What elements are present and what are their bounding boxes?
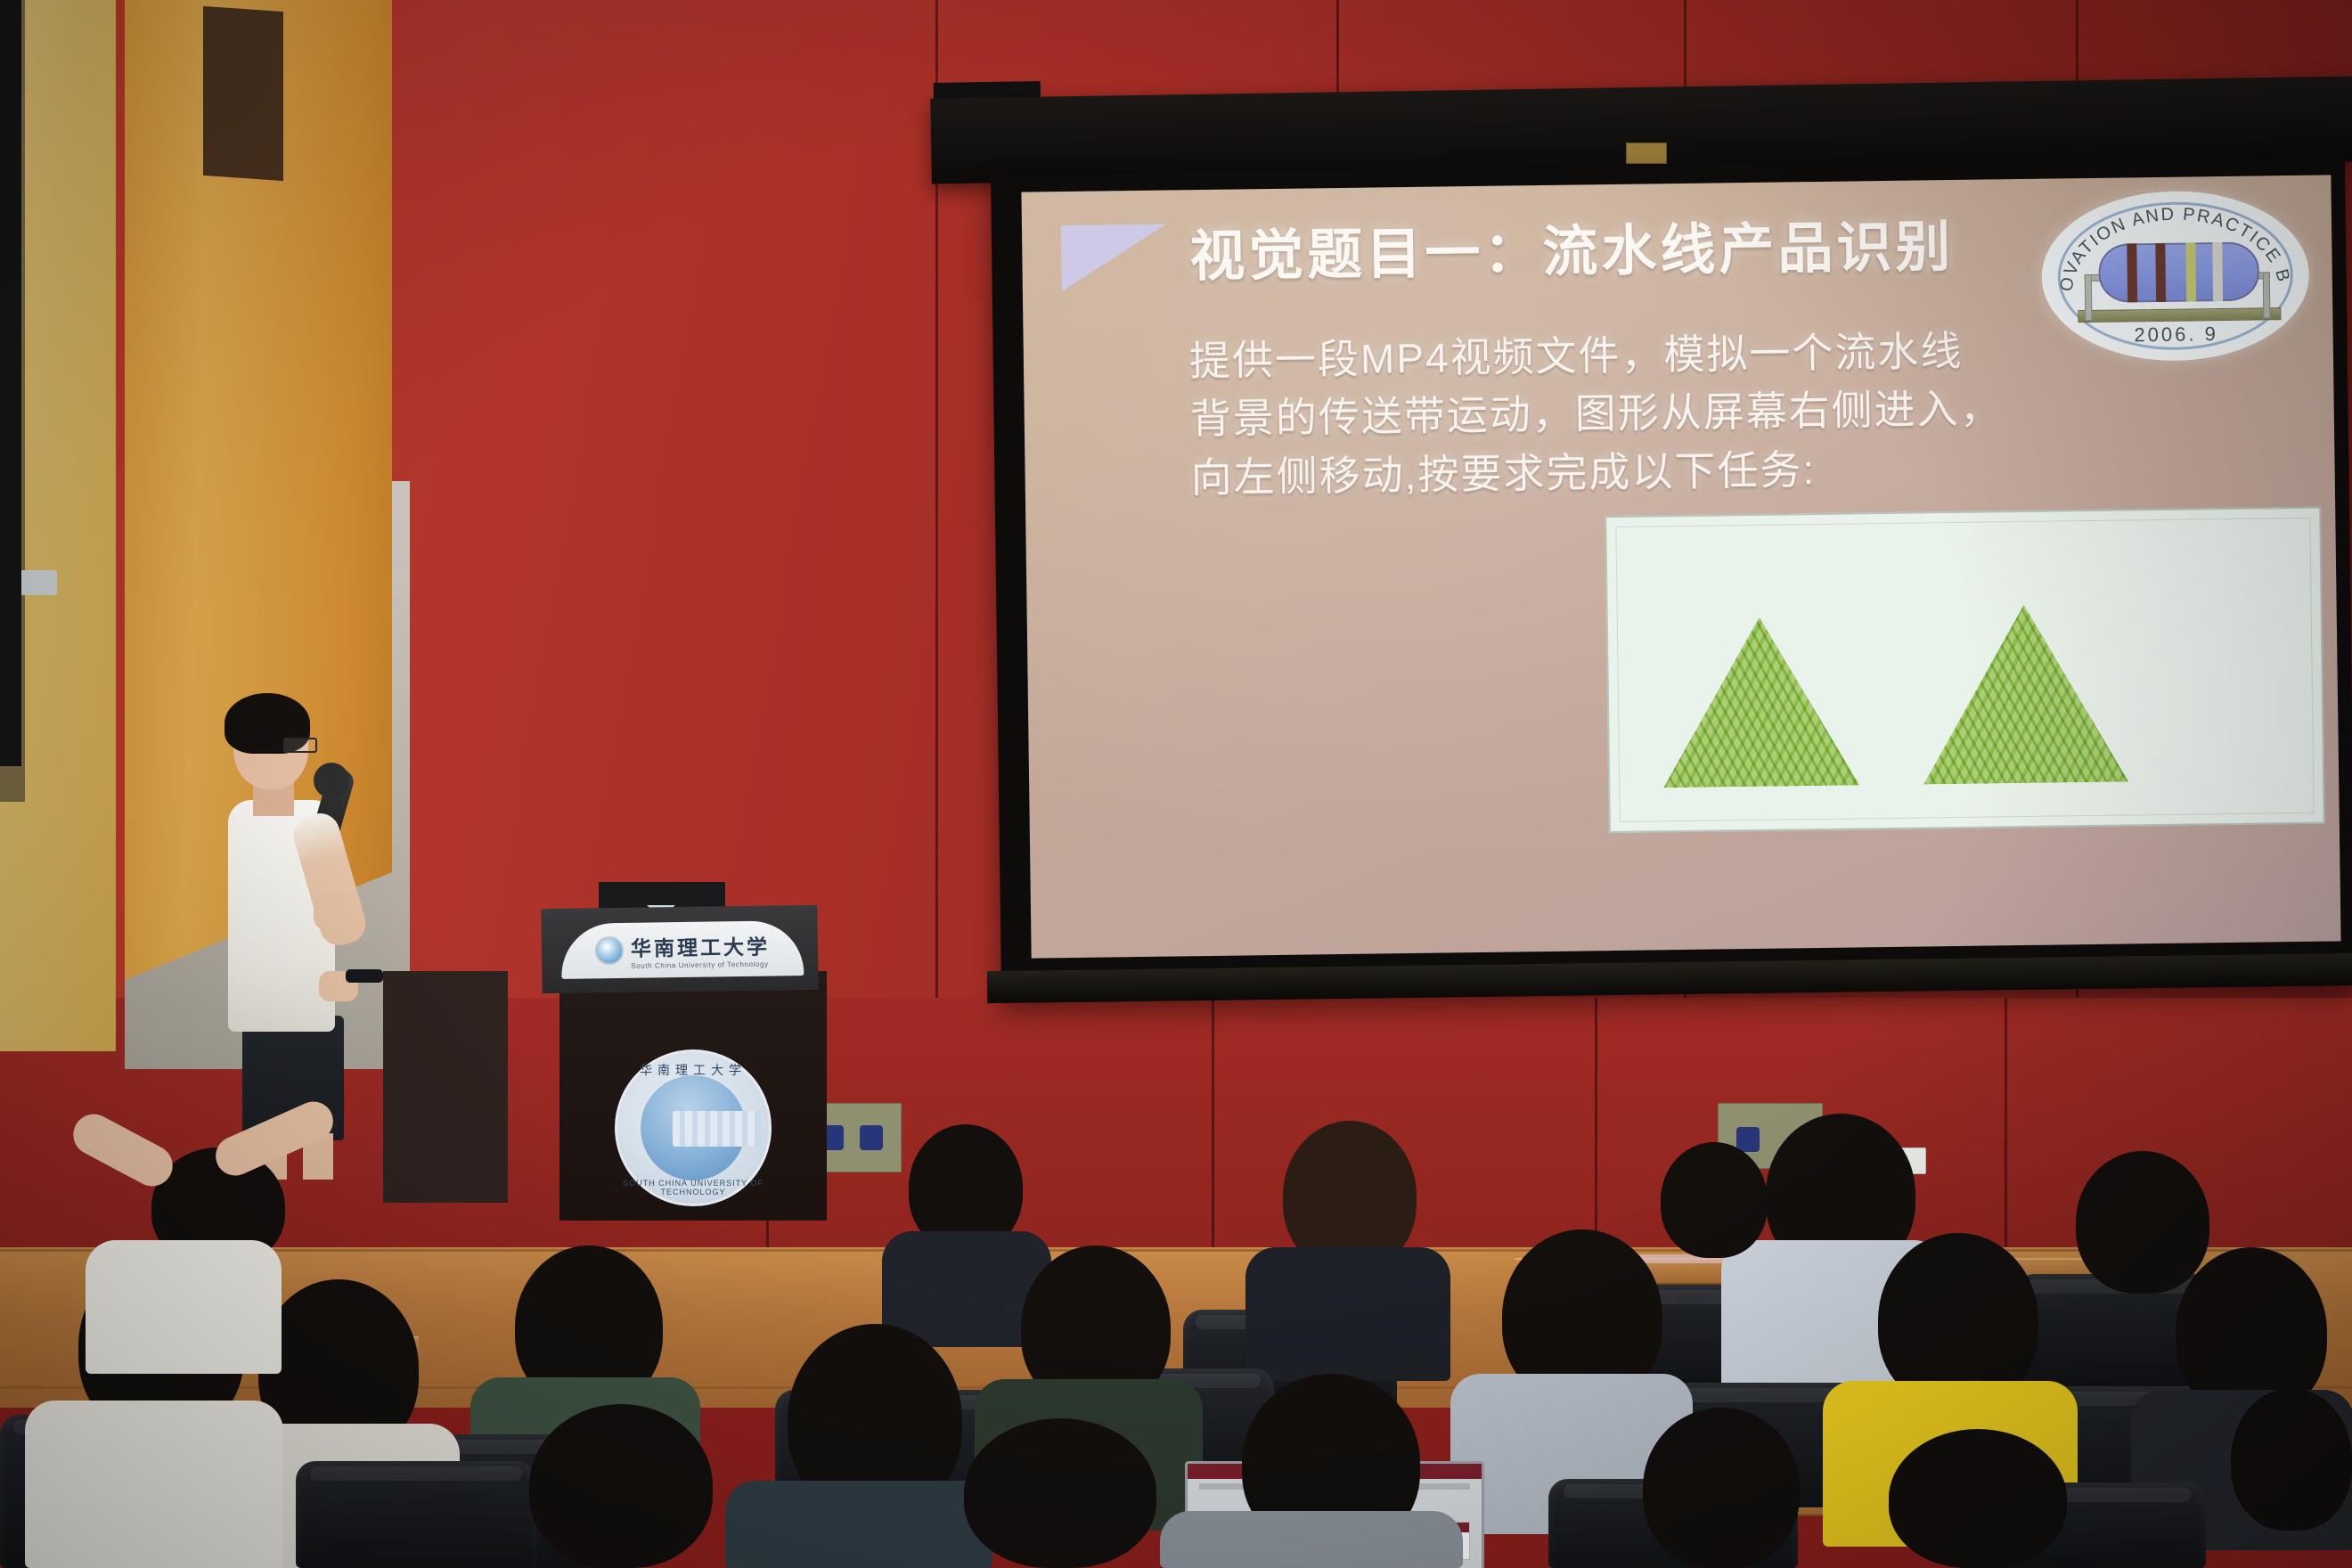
presenter-remote-icon (346, 969, 383, 983)
slide-figure-panel (1605, 507, 2325, 833)
podium-sign-cn: 华南理工大学 (631, 929, 770, 961)
microphone-head-icon (314, 763, 349, 798)
audience-body (25, 1401, 283, 1568)
audience-body (725, 1481, 992, 1568)
resistor-band (2185, 242, 2196, 301)
audience-head (964, 1418, 1156, 1568)
podium-sign: 华南理工大学 South China University of Technol… (561, 920, 804, 979)
audience-body (86, 1240, 282, 1374)
university-emblem-icon (595, 936, 624, 965)
logo-year-label: 2006. 9 (2042, 322, 2309, 348)
dark-doorway (383, 971, 508, 1203)
logo-lead-left-down (2085, 274, 2093, 321)
logo-lead-right-down (2263, 272, 2271, 318)
innovation-practice-base-logo: INNOVATION AND PRACTICE BASE 2006. 9 (2041, 190, 2310, 363)
glasses-icon (283, 738, 317, 753)
slide-body-line: 背景的传送带运动，图形从屏幕右侧进入， (1189, 379, 2081, 448)
left-dark-frame (0, 0, 21, 766)
logo-resistor-icon (2098, 241, 2259, 302)
crest-inner-disc (641, 1075, 746, 1180)
wall-seam (2005, 998, 2007, 1265)
lecture-hall-photo: 视觉题目一：流水线产品识别 提供一段MP4视频文件，模拟一个流水线 背景的传送带… (0, 0, 2352, 1568)
podium-crest: 华南理工大学 SOUTH CHINA UNIVERSITY OF TECHNOL… (615, 1049, 772, 1206)
network-jack (860, 1125, 883, 1150)
wall-dark-square (203, 6, 283, 181)
wall-seam (1212, 998, 1214, 1265)
presenter-hand (314, 891, 351, 930)
podium-sign-en: South China University of Technology (631, 960, 770, 969)
crest-en-label: SOUTH CHINA UNIVERSITY OF TECHNOLOGY (617, 1179, 769, 1196)
screen-brand-label (1626, 143, 1667, 164)
resistor-band (2212, 242, 2223, 301)
audience-head (1889, 1429, 2067, 1568)
slide-title: 视觉题目一：流水线产品识别 (1189, 201, 1955, 291)
slide: 视觉题目一：流水线产品识别 提供一段MP4视频文件，模拟一个流水线 背景的传送带… (1021, 175, 2340, 958)
chair (296, 1461, 536, 1568)
audience-head (1643, 1408, 1800, 1568)
logo-stand-base (2078, 307, 2281, 323)
audience-head (2076, 1151, 2209, 1294)
resistor-band (2127, 243, 2137, 302)
slide-body: 提供一段MP4视频文件，模拟一个流水线 背景的传送带运动，图形从屏幕右侧进入， … (1189, 321, 2082, 507)
audience-body (1245, 1247, 1450, 1381)
wall-seam (1595, 998, 1597, 1265)
audience-body (1160, 1511, 1463, 1568)
network-jack (1736, 1127, 1760, 1152)
audience-head (529, 1404, 713, 1568)
title-triangle-icon (1061, 225, 1167, 292)
audience-head (1661, 1142, 1768, 1258)
resistor-band (2155, 243, 2166, 302)
crest-building-icon (673, 1111, 760, 1147)
slide-body-line: 向左侧移动,按要求完成以下任务: (1190, 437, 2082, 507)
audience-head (2231, 1388, 2352, 1531)
